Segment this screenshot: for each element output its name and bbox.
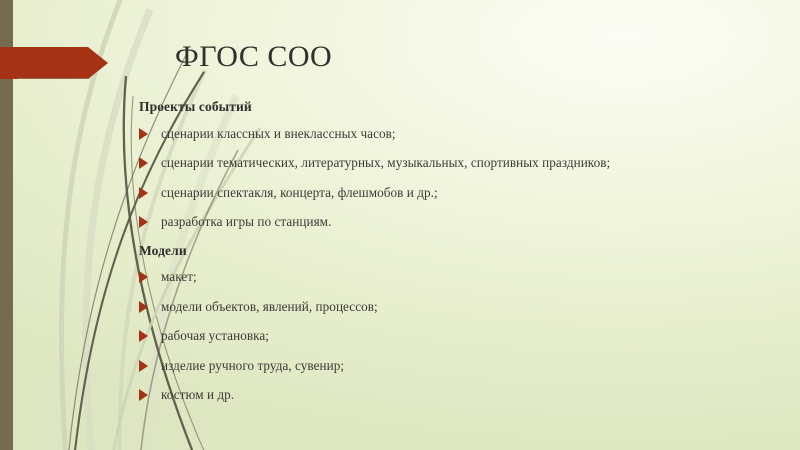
group-heading: Проекты событий	[139, 100, 779, 114]
list-item-label: изделие ручного труда, сувенир;	[161, 358, 344, 373]
list-item: сценарии спектакля, концерта, флешмобов …	[139, 186, 779, 201]
triangle-bullet-icon	[139, 271, 148, 283]
page-title: ФГОС СОО	[175, 40, 332, 74]
triangle-bullet-icon	[139, 128, 148, 140]
triangle-bullet-icon	[139, 389, 148, 401]
list-item-label: костюм и др.	[161, 387, 234, 402]
list-item: разработка игры по станциям.	[139, 215, 779, 230]
list-item: костюм и др.	[139, 388, 779, 403]
list-item-label: сценарии классных и внеклассных часов;	[161, 126, 396, 141]
list-item-label: модели объектов, явлений, процессов;	[161, 299, 378, 314]
content-group-projects: Проекты событий сценарии классных и внек…	[139, 100, 779, 230]
triangle-bullet-icon	[139, 187, 148, 199]
triangle-bullet-icon	[139, 360, 148, 372]
triangle-bullet-icon	[139, 301, 148, 313]
list-item: изделие ручного труда, сувенир;	[139, 359, 779, 374]
right-arrow-banner	[0, 47, 108, 79]
slide-body: Проекты событий сценарии классных и внек…	[139, 100, 779, 417]
bullet-list: макет; модели объектов, явлений, процесс…	[139, 270, 779, 403]
list-item: сценарии классных и внеклассных часов;	[139, 127, 779, 142]
group-heading: Модели	[139, 244, 779, 258]
list-item-label: рабочая установка;	[161, 328, 269, 343]
list-item: модели объектов, явлений, процессов;	[139, 300, 779, 315]
presentation-slide: ФГОС СОО Проекты событий сценарии классн…	[0, 0, 800, 450]
bullet-list: сценарии классных и внеклассных часов; с…	[139, 127, 779, 230]
list-item: рабочая установка;	[139, 329, 779, 344]
triangle-bullet-icon	[139, 216, 148, 228]
list-item-label: сценарии спектакля, концерта, флешмобов …	[161, 185, 438, 200]
list-item-label: разработка игры по станциям.	[161, 214, 331, 229]
triangle-bullet-icon	[139, 330, 148, 342]
list-item-label: сценарии тематических, литературных, муз…	[161, 155, 610, 170]
triangle-bullet-icon	[139, 157, 148, 169]
list-item-label: макет;	[161, 269, 197, 284]
content-group-models: Модели макет; модели объектов, явлений, …	[139, 244, 779, 403]
list-item: макет;	[139, 270, 779, 285]
list-item: сценарии тематических, литературных, муз…	[139, 156, 779, 171]
